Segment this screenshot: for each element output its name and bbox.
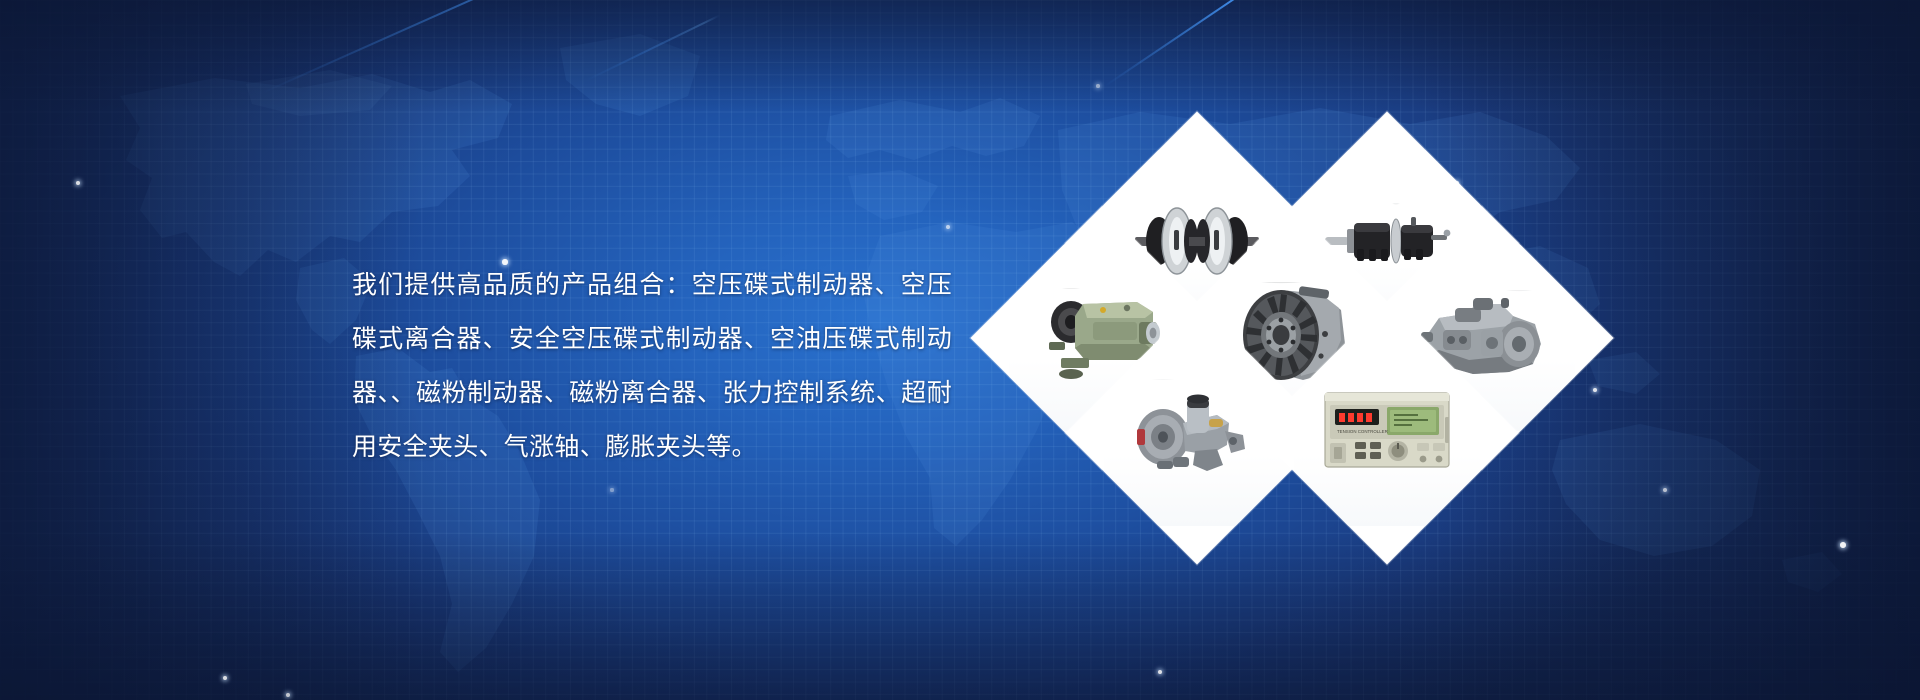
headline-copy-block: 我们提供高品质的产品组合：空压碟式制动器、空压碟式离合器、安全空压碟式制动器、空… xyxy=(352,258,952,474)
sparkle-dot-icon xyxy=(1593,388,1598,393)
headline-paragraph: 我们提供高品质的产品组合：空压碟式制动器、空压碟式离合器、安全空压碟式制动器、空… xyxy=(352,258,952,474)
hero-banner: 我们提供高品质的产品组合：空压碟式制动器、空压碟式离合器、安全空压碟式制动器、空… xyxy=(0,0,1920,700)
sparkle-dot-icon xyxy=(946,225,950,229)
svg-text:TENSION CONTROLLER: TENSION CONTROLLER xyxy=(1337,429,1388,434)
sparkle-dot-icon xyxy=(76,181,80,185)
tension-controller-icon: TENSION CONTROLLER xyxy=(1321,389,1453,477)
sparkle-dot-icon xyxy=(610,488,613,491)
sparkle-dot-icon xyxy=(1158,670,1163,675)
sparkle-dot-icon xyxy=(1840,542,1846,548)
sparkle-dot-icon xyxy=(1663,488,1667,492)
product-diamond-grid: TENSION CONTROLLER xyxy=(1030,168,1550,546)
sparkle-dot-icon xyxy=(1096,84,1100,88)
booster-pump-icon xyxy=(1133,379,1261,487)
sparkle-dot-icon xyxy=(286,693,290,697)
sparkle-dot-icon xyxy=(223,676,227,680)
sparkle-layer xyxy=(0,0,1920,700)
